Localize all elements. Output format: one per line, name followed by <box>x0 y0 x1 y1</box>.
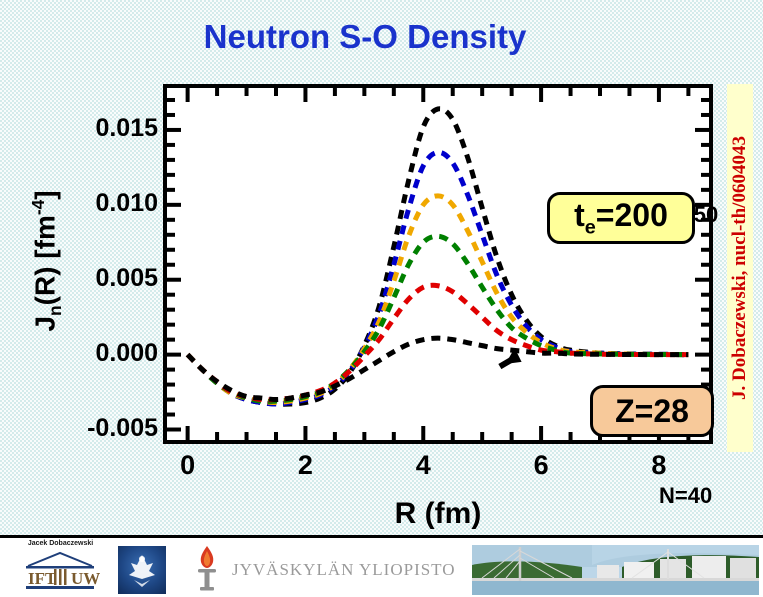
data-curves <box>188 109 689 405</box>
x-tick-label: 0 <box>158 450 218 481</box>
x-tick-label: 2 <box>275 450 335 481</box>
x-axis-label: R (fm) <box>163 497 713 531</box>
y-tick-label: 0.015 <box>8 114 158 143</box>
x-tick-label: 4 <box>393 450 453 481</box>
y-tick-label: 0.010 <box>8 189 158 218</box>
y-axis-tick-labels: -0.0050.0000.0050.0100.015 <box>0 0 158 597</box>
y-tick-label: -0.005 <box>8 414 158 443</box>
slide-canvas: Neutron S-O Density Jn(R) [fm-4] -0.0050… <box>0 0 763 597</box>
callout-te: te=200 <box>547 192 695 244</box>
curve-curve-4 <box>188 236 689 401</box>
uw-seal-icon <box>118 546 166 594</box>
curve-curve-2 <box>188 152 689 404</box>
curve-curve-5 <box>188 285 689 400</box>
x-tick-label: 6 <box>511 450 571 481</box>
y-tick-label: 0.005 <box>8 264 158 293</box>
callout-te-text: te=200 <box>574 197 668 239</box>
ift-uw-logo: IFT UW <box>14 540 107 594</box>
jyvaskyla-wordmark: JYVÄSKYLÄN YLIOPISTO <box>232 560 456 580</box>
callout-z-text: Z=28 <box>615 393 689 430</box>
ift-logo-name: Jacek Dobaczewski <box>14 540 107 547</box>
curve-N=50 <box>188 109 689 405</box>
torch-icon <box>190 544 224 594</box>
x-tick-label: 8 <box>629 450 689 481</box>
author-credit-text: J. Dobaczewski, nucl-th/0604043 <box>729 136 751 400</box>
svg-text:UW: UW <box>71 569 100 588</box>
author-credit-strip: J. Dobaczewski, nucl-th/0604043 <box>727 84 753 452</box>
svg-text:IFT: IFT <box>28 569 57 588</box>
callout-z: Z=28 <box>590 385 714 437</box>
campus-photo <box>472 545 759 595</box>
footer-bar: IFT UW Jacek Dobaczewski JYVÄSKYLÄN YLIO… <box>0 538 763 597</box>
y-tick-label: 0.000 <box>8 339 158 368</box>
